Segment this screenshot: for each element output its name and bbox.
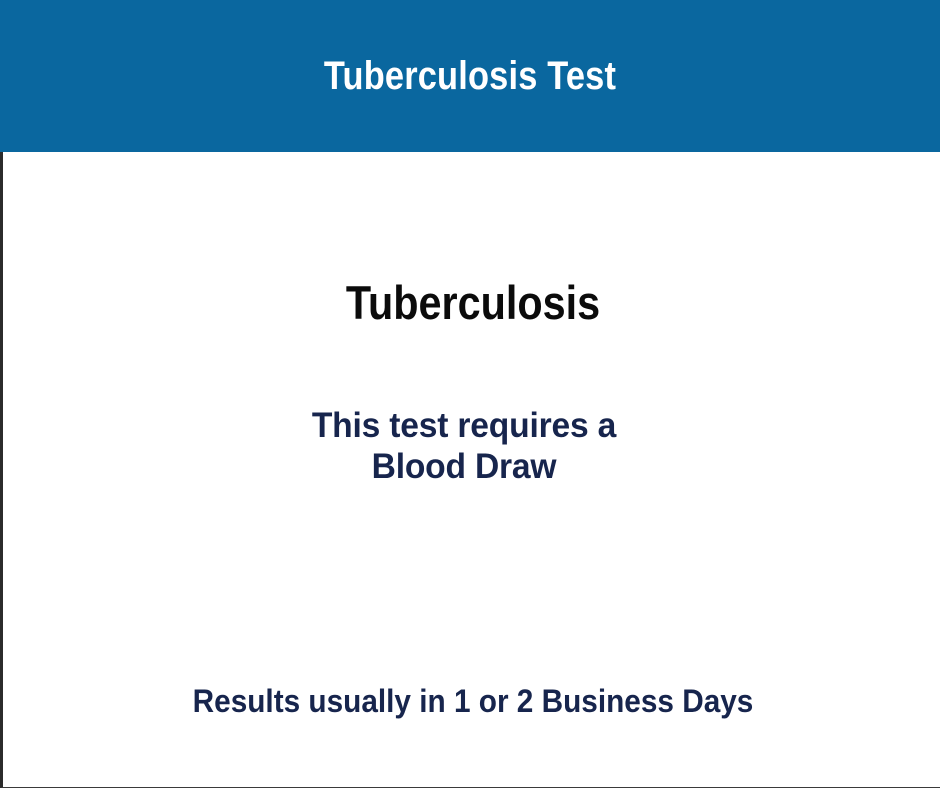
card-body: Tuberculosis This test requires a Blood …	[0, 152, 940, 788]
tuberculosis-test-card: Tuberculosis Test Tuberculosis This test…	[0, 0, 940, 788]
test-requirement-block: This test requires a Blood Draw	[21, 405, 906, 487]
results-turnaround-note: Results usually in 1 or 2 Business Days	[36, 684, 910, 719]
card-header-band: Tuberculosis Test	[0, 0, 940, 152]
requirement-line-2: Blood Draw	[21, 446, 906, 487]
requirement-line-1: This test requires a	[21, 405, 906, 446]
page-title: Tuberculosis Test	[66, 0, 874, 152]
test-name-heading: Tuberculosis	[59, 278, 886, 327]
